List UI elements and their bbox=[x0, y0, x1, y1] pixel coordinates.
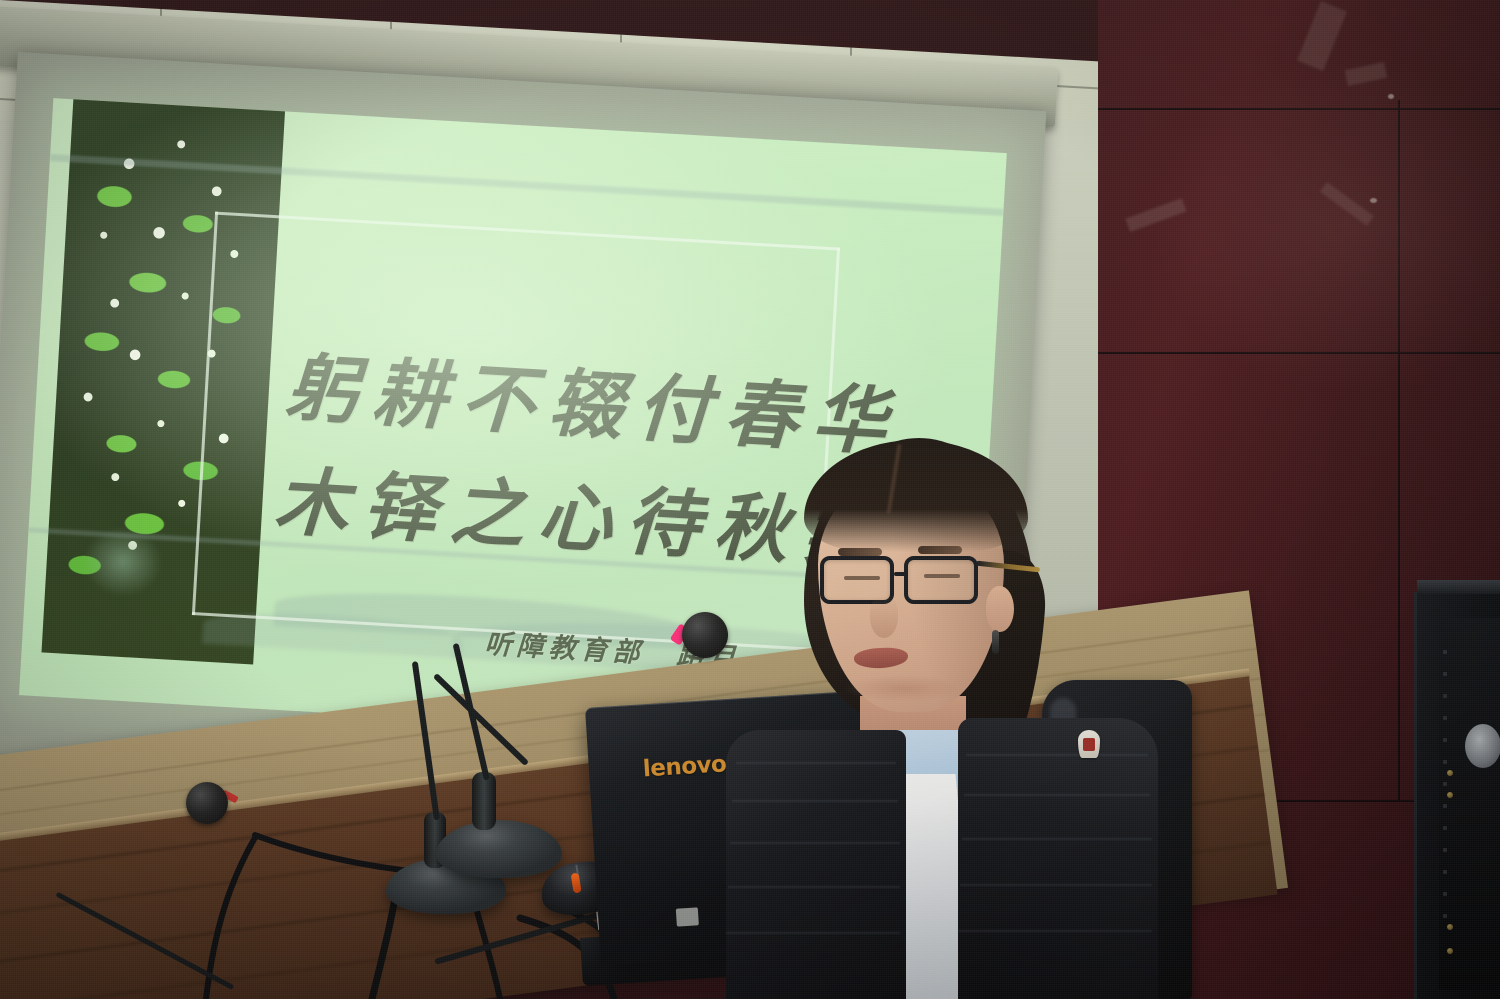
ear-right bbox=[986, 586, 1014, 632]
rack-cable-coil bbox=[1465, 724, 1500, 768]
chin-shading bbox=[838, 674, 968, 710]
jacket-badge-inner bbox=[1083, 738, 1095, 751]
mic-right-head bbox=[682, 612, 728, 658]
eyebrow-right bbox=[918, 546, 962, 554]
photo-scene: 躬耕不辍付春华 木铎之心待秋实 听障教育部 路月 bbox=[0, 0, 1500, 999]
mic-right-neck bbox=[472, 772, 496, 830]
lenovo-logo: lenovo bbox=[642, 751, 727, 782]
eyeglasses bbox=[820, 556, 1004, 606]
rack-interior bbox=[1439, 618, 1500, 990]
wall-gloss-highlight bbox=[1098, 0, 1500, 560]
jacket-left-panel bbox=[726, 730, 906, 999]
jacket-right-panel bbox=[958, 718, 1158, 999]
presenter bbox=[742, 430, 1132, 999]
jacket-brand-badge bbox=[1078, 730, 1100, 758]
earring bbox=[992, 630, 999, 654]
mic-left-head bbox=[186, 782, 228, 824]
eyeglass-bridge bbox=[894, 572, 908, 576]
equipment-rack bbox=[1414, 592, 1500, 999]
mouse-scroll-wheel[interactable] bbox=[571, 873, 582, 894]
eyeglass-lens-right bbox=[904, 556, 978, 604]
rack-top-cap bbox=[1417, 580, 1500, 594]
eyebrow-left bbox=[838, 548, 882, 556]
hair-front bbox=[804, 440, 1028, 552]
nose bbox=[870, 596, 898, 638]
laptop-port bbox=[676, 907, 699, 926]
